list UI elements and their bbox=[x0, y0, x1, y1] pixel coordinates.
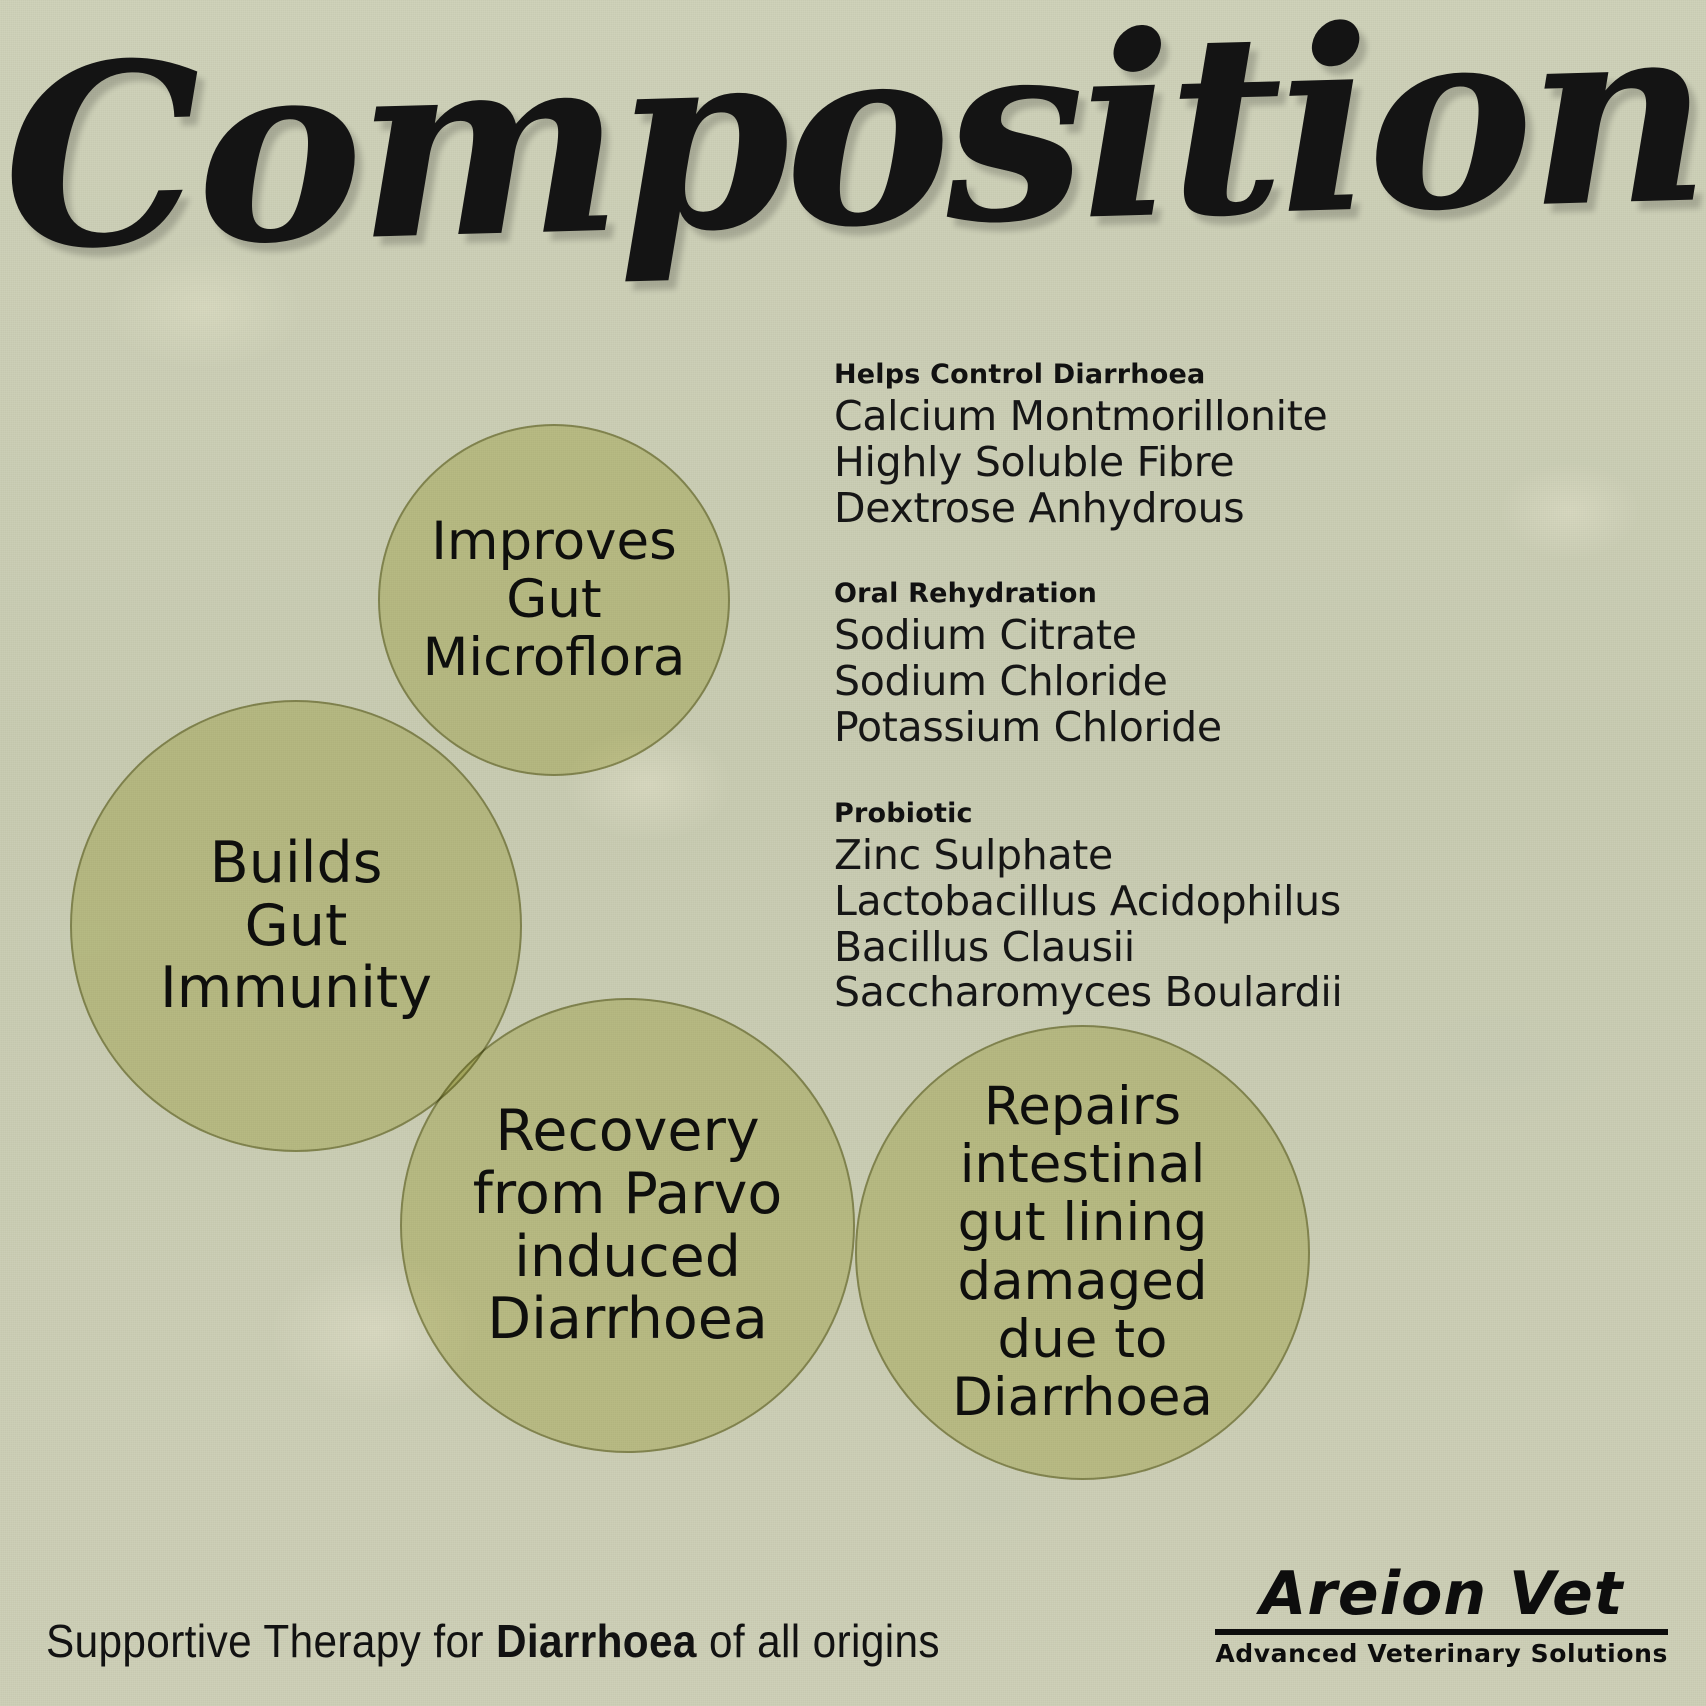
ingredient-group-helps-control-diarrhoea: Helps Control Diarrhoea Calcium Montmori… bbox=[834, 358, 1474, 531]
ingredient-item: Calcium Montmorillonite bbox=[834, 394, 1474, 440]
benefit-circle-microflora-label: ImprovesGutMicroflora bbox=[413, 513, 696, 688]
ingredient-group-heading: Oral Rehydration bbox=[834, 577, 1474, 611]
ingredient-item: Sodium Chloride bbox=[834, 659, 1474, 705]
benefit-circle-repairs[interactable]: Repairsintestinalgut liningdamageddue to… bbox=[855, 1025, 1310, 1480]
ingredient-item: Zinc Sulphate bbox=[834, 833, 1474, 879]
ingredients-list: Helps Control Diarrhoea Calcium Montmori… bbox=[834, 358, 1474, 1016]
benefit-circle-immunity-label: BuildsGutImmunity bbox=[150, 832, 442, 1020]
tagline-text-bold: Diarrhoea bbox=[496, 1615, 697, 1667]
brand-logo[interactable]: Areion Vet Advanced Veterinary Solutions bbox=[1215, 1564, 1668, 1666]
page-title: Composition bbox=[0, 0, 1706, 284]
ingredient-item: Sodium Citrate bbox=[834, 613, 1474, 659]
tagline-text-before: Supportive Therapy for bbox=[46, 1615, 496, 1667]
ingredient-group-oral-rehydration: Oral Rehydration Sodium Citrate Sodium C… bbox=[834, 577, 1474, 750]
benefit-circle-parvo[interactable]: Recoveryfrom ParvoinducedDiarrhoea bbox=[400, 998, 855, 1453]
brand-wordmark: Areion Vet bbox=[1215, 1564, 1668, 1624]
brand-subtitle: Advanced Veterinary Solutions bbox=[1215, 1641, 1668, 1666]
ingredient-item: Lactobacillus Acidophilus bbox=[834, 879, 1474, 925]
ingredient-group-probiotic: Probiotic Zinc Sulphate Lactobacillus Ac… bbox=[834, 797, 1474, 1016]
ingredient-group-heading: Helps Control Diarrhoea bbox=[834, 358, 1474, 392]
benefit-circle-microflora[interactable]: ImprovesGutMicroflora bbox=[378, 424, 730, 776]
ingredient-item: Potassium Chloride bbox=[834, 705, 1474, 751]
ingredient-item: Highly Soluble Fibre bbox=[834, 440, 1474, 486]
footer-tagline: Supportive Therapy for Diarrhoea of all … bbox=[46, 1614, 940, 1668]
benefit-circle-repairs-label: Repairsintestinalgut liningdamageddue to… bbox=[942, 1078, 1223, 1428]
brand-logo-rule bbox=[1215, 1629, 1668, 1635]
tagline-text-after: of all origins bbox=[697, 1615, 940, 1667]
ingredient-item: Bacillus Clausii bbox=[834, 925, 1474, 971]
ingredient-item: Saccharomyces Boulardii bbox=[834, 970, 1474, 1016]
ingredient-item: Dextrose Anhydrous bbox=[834, 486, 1474, 532]
benefit-circle-parvo-label: Recoveryfrom ParvoinducedDiarrhoea bbox=[463, 1100, 793, 1351]
ingredient-group-heading: Probiotic bbox=[834, 797, 1474, 831]
poster-canvas: Composition ImprovesGutMicroflora Builds… bbox=[0, 0, 1706, 1706]
